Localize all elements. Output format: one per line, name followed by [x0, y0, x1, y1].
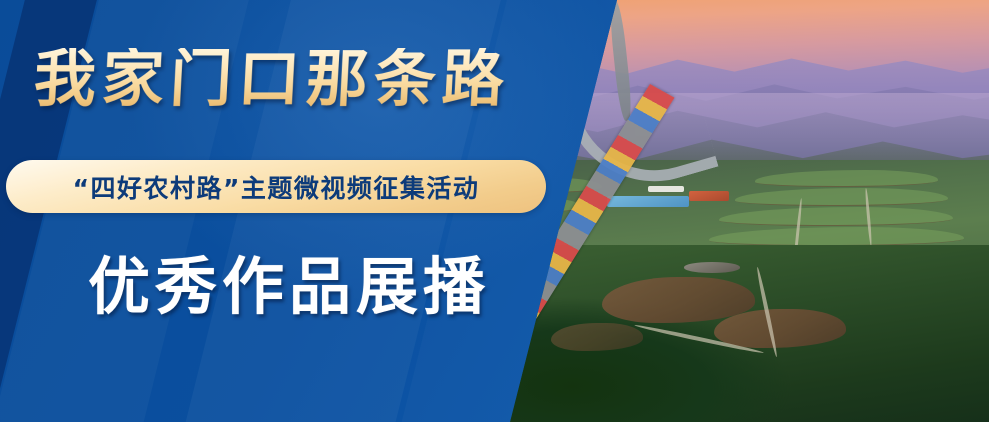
terrace-field	[735, 188, 949, 205]
village-building-white	[648, 186, 684, 192]
campaign-pill-label: “四好农村路”主题微视频征集活动	[73, 169, 480, 205]
terrace-field	[709, 227, 964, 246]
terrace-field	[755, 170, 938, 186]
eroded-earth-patch	[551, 323, 643, 351]
eroded-earth-patch	[714, 309, 846, 348]
promo-banner: 我家门口那条路 “四好农村路”主题微视频征集活动 优秀作品展播	[0, 0, 989, 422]
terrace-field	[719, 207, 953, 226]
page-title: 我家门口那条路	[32, 48, 565, 110]
section-subtitle: 优秀作品展播	[88, 256, 490, 318]
village-building-blue	[607, 196, 688, 207]
campaign-pill: “四好农村路”主题微视频征集活动	[6, 160, 546, 213]
village-building-red	[689, 191, 730, 201]
pavilion-roof	[684, 262, 740, 273]
